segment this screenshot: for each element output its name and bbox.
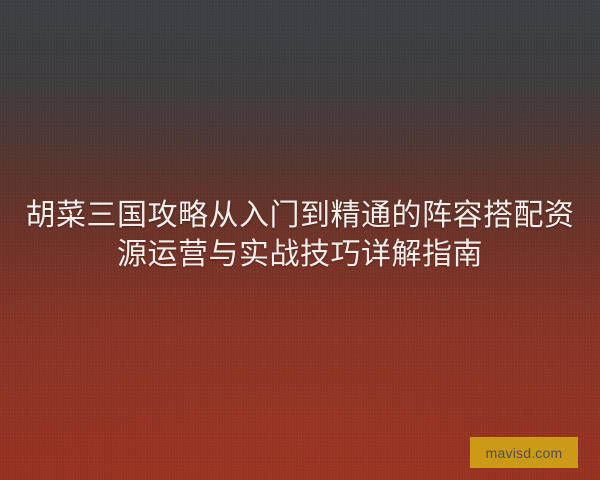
cover-image: 胡菜三国攻略从入门到精通的阵容搭配资 源运营与实战技巧详解指南 mavisd.c… — [0, 0, 600, 480]
watermark-label: mavisd.com — [486, 446, 563, 460]
title-line-2: 源运营与实战技巧详解指南 — [20, 235, 580, 274]
title-line-1: 胡菜三国攻略从入门到精通的阵容搭配资 — [20, 196, 580, 235]
watermark-badge[interactable]: mavisd.com — [470, 437, 578, 468]
page-title: 胡菜三国攻略从入门到精通的阵容搭配资 源运营与实战技巧详解指南 — [0, 196, 600, 274]
